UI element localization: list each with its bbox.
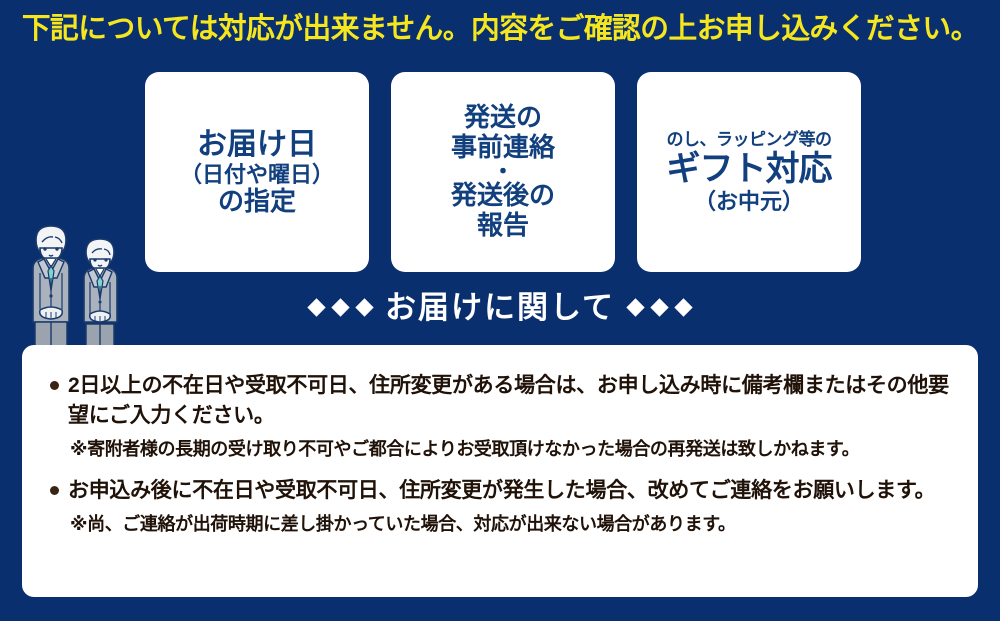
card2-line1: 発送の [464, 103, 542, 133]
card3-line2: ギフト対応 [667, 150, 832, 189]
card2-separator: ・ [492, 163, 514, 182]
diamond-icon [650, 298, 668, 316]
section-title: お届けに関して [385, 292, 615, 323]
header-bar: 下記については対応が出来ません。内容をご確認の上お申し込みください。 [0, 0, 1000, 58]
diamond-icon [307, 298, 325, 316]
note-bullet-text: 2日以上の不在日や受取不可日、住所変更がある場合は、お申し込み時に備考欄またはそ… [68, 371, 954, 431]
diamond-icon [355, 298, 373, 316]
diamond-icon [674, 298, 692, 316]
card1-line2: （日付や曜日） [180, 162, 334, 187]
restriction-cards: お届け日 （日付や曜日） の指定 発送の 事前連絡 ・ 発送後の 報告 のし、ラ… [145, 72, 861, 272]
bullet-dot-icon [50, 486, 59, 495]
note-bullet-row: 2日以上の不在日や受取不可日、住所変更がある場合は、お申し込み時に備考欄またはそ… [48, 371, 954, 431]
note-sub-text: ※寄附者様の長期の受け取り不可やご都合によりお受取頂けなかった場合の再発送は致し… [70, 437, 954, 462]
card3-line3: （お中元） [694, 189, 804, 214]
notes-panel: 2日以上の不在日や受取不可日、住所変更がある場合は、お申し込み時に備考欄またはそ… [22, 345, 978, 597]
card1-line1: お届け日 [197, 128, 317, 162]
card2-line4: 報告 [477, 211, 529, 241]
note-sub-text: ※尚、ご連絡が出荷時期に差し掛かっていた場合、対応が出来ない場合があります。 [70, 512, 954, 537]
delivery-date-card: お届け日 （日付や曜日） の指定 [145, 72, 369, 272]
shipping-contact-card: 発送の 事前連絡 ・ 発送後の 報告 [391, 72, 615, 272]
note-block: 2日以上の不在日や受取不可日、住所変更がある場合は、お申し込み時に備考欄またはそ… [48, 371, 954, 462]
card2-line3: 発送後の [451, 181, 555, 211]
diamonds-left [310, 301, 371, 314]
card1-line3: の指定 [218, 187, 296, 217]
diamonds-right [629, 301, 690, 314]
note-bullet-text: お申込み後に不在日や受取不可日、住所変更が発生した場合、改めてご連絡をお願いしま… [68, 476, 935, 506]
card3-line1: のし、ラッピング等の [667, 130, 832, 149]
header-headline: 下記については対応が出来ません。内容をご確認の上お申し込みください。 [21, 15, 978, 44]
delivery-notice-banner: 下記については対応が出来ません。内容をご確認の上お申し込みください。 お届け日 … [0, 0, 1000, 621]
bullet-dot-icon [50, 381, 59, 390]
diamond-icon [626, 298, 644, 316]
note-block: お申込み後に不在日や受取不可日、住所変更が発生した場合、改めてご連絡をお願いしま… [48, 476, 954, 537]
note-bullet-row: お申込み後に不在日や受取不可日、住所変更が発生した場合、改めてご連絡をお願いしま… [48, 476, 954, 506]
section-heading: お届けに関して [0, 283, 1000, 331]
gift-wrapping-card: のし、ラッピング等の ギフト対応 （お中元） [637, 72, 861, 272]
diamond-icon [331, 298, 349, 316]
